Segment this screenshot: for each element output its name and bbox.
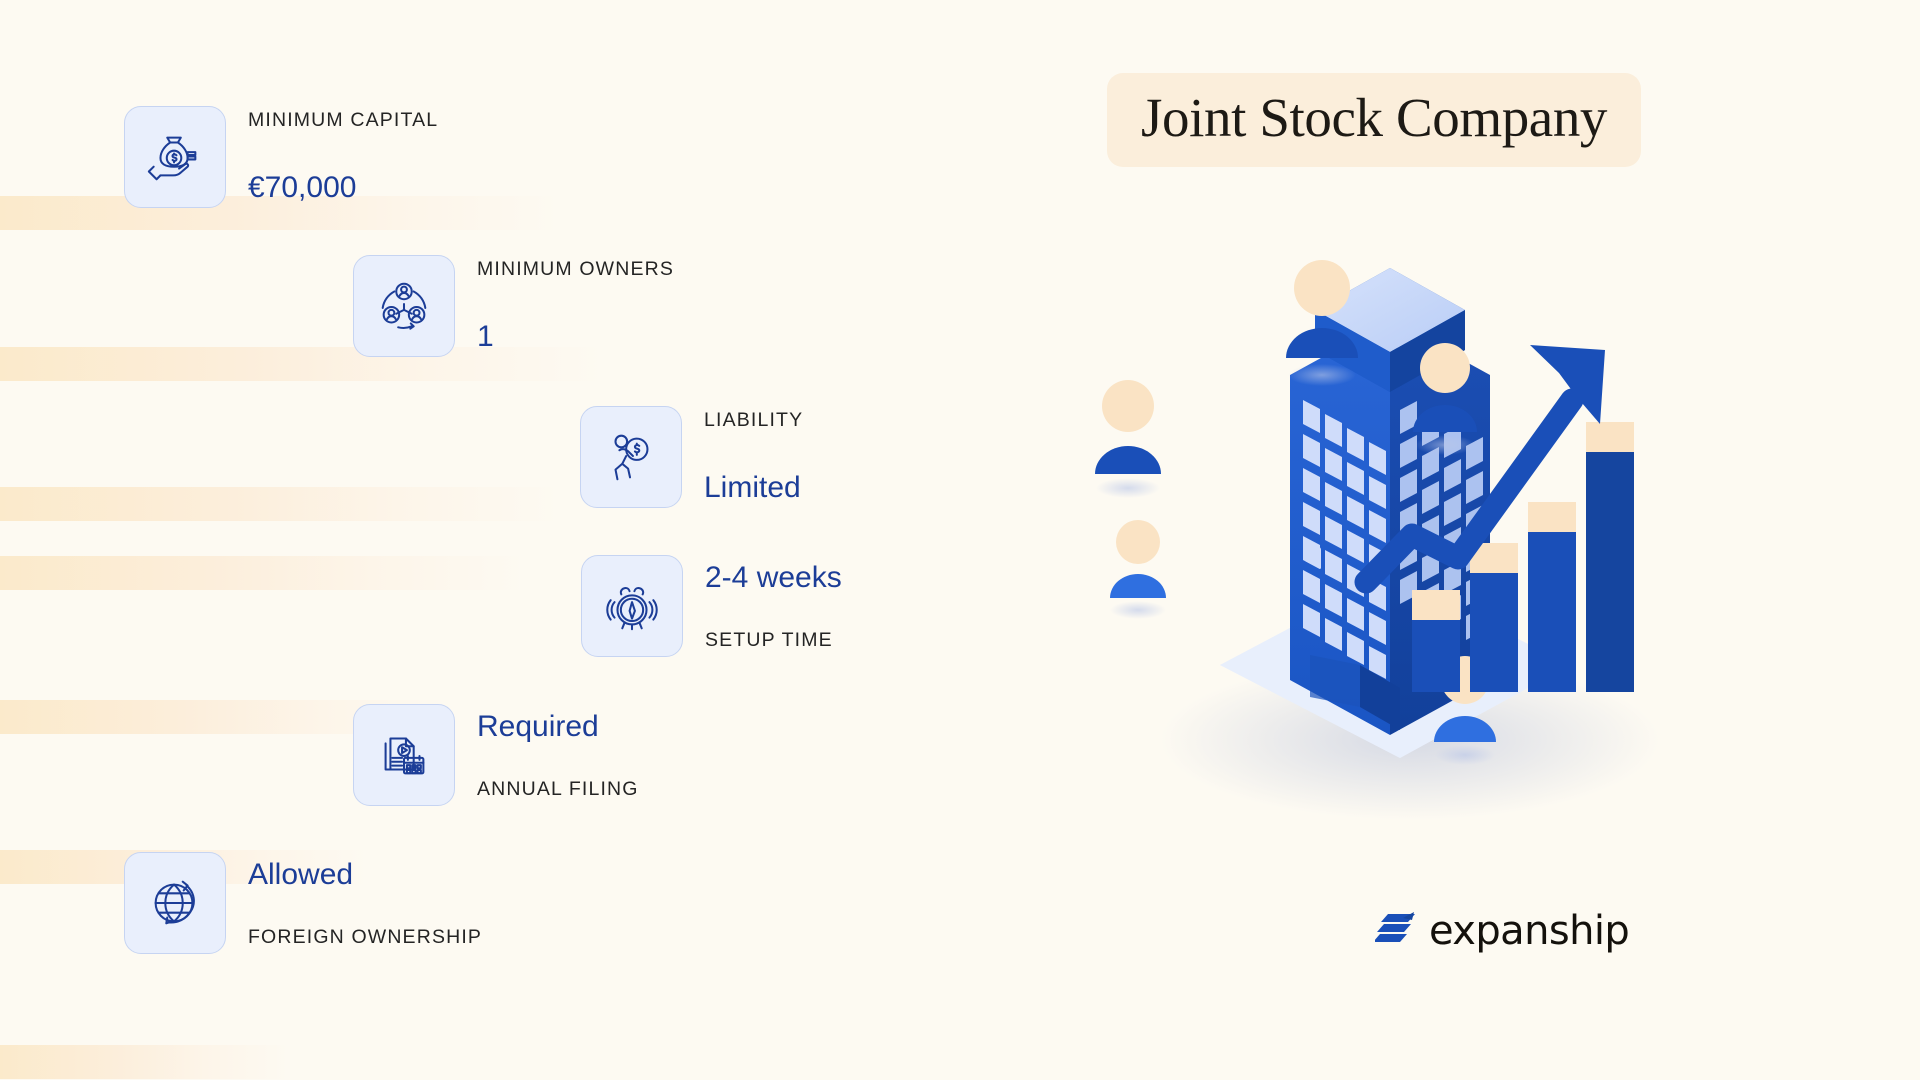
facts-list: MINIMUM CAPITAL €70,000 (0, 0, 1060, 1080)
fact-row-foreign-ownership: Allowed FOREIGN OWNERSHIP (124, 852, 482, 954)
fact-text-annual-filing: Required ANNUAL FILING (477, 710, 639, 800)
fact-text-setup-time: 2-4 weeks SETUP TIME (705, 561, 842, 651)
fact-value: 1 (477, 320, 674, 353)
fact-text-minimum-owners: MINIMUM OWNERS 1 (477, 259, 674, 353)
brand-logo: expanship (1375, 908, 1629, 954)
hero-panel: Joint Stock Company (1060, 0, 1920, 1080)
title-badge: Joint Stock Company (1107, 73, 1641, 167)
fact-text-liability: LIABILITY Limited (704, 410, 803, 504)
fact-text-minimum-capital: MINIMUM CAPITAL €70,000 (248, 110, 438, 204)
fact-label: MINIMUM CAPITAL (248, 110, 438, 131)
fact-value: 2-4 weeks (705, 561, 842, 594)
fact-row-annual-filing: Required ANNUAL FILING (353, 704, 639, 806)
fact-label: SETUP TIME (705, 630, 842, 651)
fact-value: Allowed (248, 858, 482, 891)
fact-value: Required (477, 710, 639, 743)
money-bag-hand-icon (124, 106, 226, 208)
fact-label: FOREIGN OWNERSHIP (248, 927, 482, 948)
fact-row-liability: LIABILITY Limited (580, 406, 803, 508)
fact-row-minimum-capital: MINIMUM CAPITAL €70,000 (124, 106, 438, 208)
fact-value: €70,000 (248, 171, 438, 204)
fact-label: LIABILITY (704, 410, 803, 431)
globe-arrow-icon (124, 852, 226, 954)
page-title: Joint Stock Company (1141, 89, 1607, 147)
fact-label: MINIMUM OWNERS (477, 259, 674, 280)
brand-wordmark: expanship (1429, 908, 1629, 954)
owners-network-icon (353, 255, 455, 357)
fact-text-foreign-ownership: Allowed FOREIGN OWNERSHIP (248, 858, 482, 948)
isometric-office-tower-illustration (1060, 210, 1920, 890)
fact-row-setup-time: 2-4 weeks SETUP TIME (581, 555, 842, 657)
alarm-clock-icon (581, 555, 683, 657)
fact-label: ANNUAL FILING (477, 779, 639, 800)
fact-value: Limited (704, 471, 803, 504)
fact-row-minimum-owners: MINIMUM OWNERS 1 (353, 255, 674, 357)
expanship-logo-icon (1375, 911, 1419, 951)
person-carrying-coin-icon (580, 406, 682, 508)
document-calendar-icon (353, 704, 455, 806)
